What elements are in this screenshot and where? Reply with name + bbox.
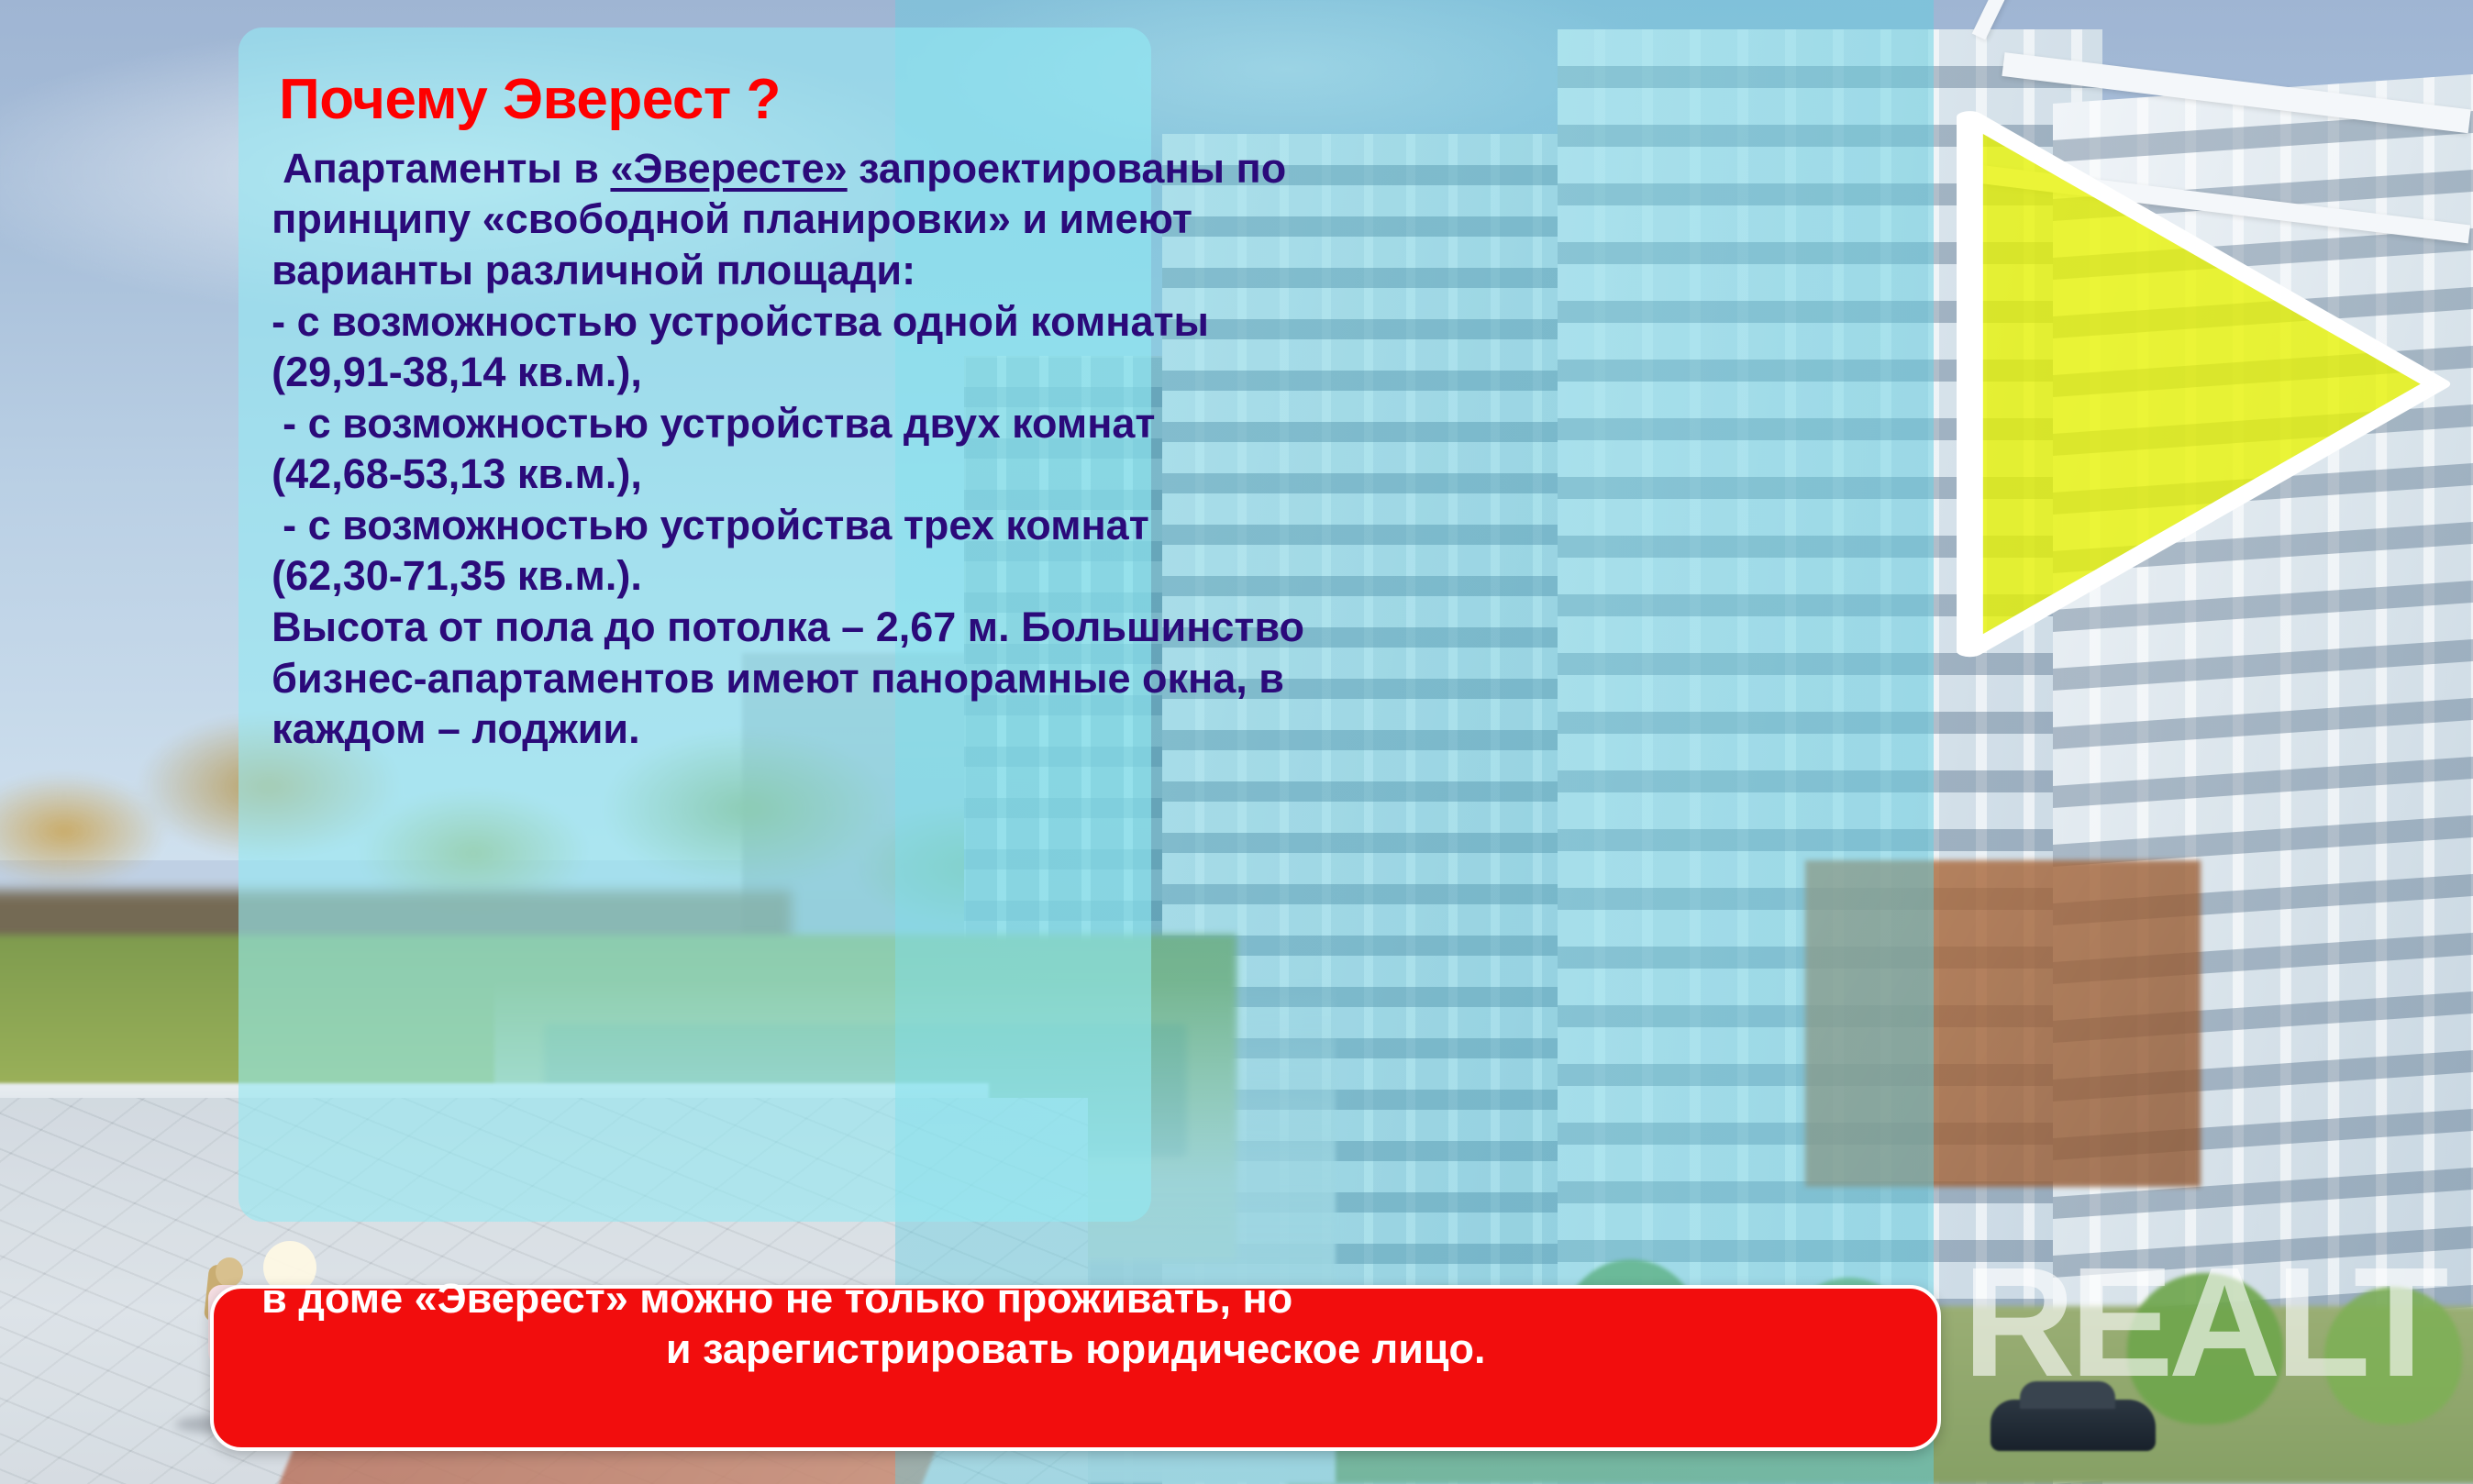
tree xyxy=(2324,1287,2462,1424)
body-line-4: - с возможностью устройства одной комнат… xyxy=(272,296,1120,348)
body-line-2: принципу «свободной планировки» и имеют xyxy=(272,194,1120,245)
red-callout-banner: в доме «Эверест» можно не только прожива… xyxy=(210,1285,1941,1451)
amber-facade xyxy=(1805,860,2201,1187)
banner-line-2: и зарегистрировать юридическое лицо. xyxy=(238,1324,1913,1462)
building-right xyxy=(2053,71,2473,1484)
body-line-3: варианты различной площади: xyxy=(272,245,1120,296)
body-line-11: бизнес-апартаментов имеют панорамные окн… xyxy=(272,653,1120,704)
body-line-6: - с возможностью устройства двух комнат xyxy=(272,398,1120,449)
tree xyxy=(2127,1273,2283,1424)
body-text-block: Апартаменты в «Эвересте» запроектированы… xyxy=(272,143,1120,755)
body-line-10-ceiling-height: Высота от пола до потолка – 2,67 м. Боль… xyxy=(272,602,1120,653)
banner-text-block: в доме «Эверест» можно не только прожива… xyxy=(214,1274,1937,1462)
everest-link: «Эвересте» xyxy=(610,145,847,192)
body-line-1-c: запроектированы по xyxy=(848,145,1287,192)
presentation-slide: Почему Эверест ? Апартаменты в «Эвересте… xyxy=(0,0,2473,1484)
window-grid xyxy=(2053,71,2473,1484)
body-line-8: - с возможностью устройства трех комнат xyxy=(272,500,1120,551)
body-line-1-a: Апартаменты в xyxy=(283,145,610,192)
body-line-9-area-three-room: (62,30-71,35 кв.м.). xyxy=(272,550,1120,602)
content-panel-inner: Почему Эверест ? Апартаменты в «Эвересте… xyxy=(238,28,1151,1222)
body-line-1: Апартаменты в «Эвересте» запроектированы… xyxy=(272,143,1120,194)
content-panel: Почему Эверест ? Апартаменты в «Эвересте… xyxy=(238,28,1151,1222)
body-line-12: каждом – лоджии. xyxy=(272,703,1120,755)
body-line-7-area-two-room: (42,68-53,13 кв.м.), xyxy=(272,449,1120,500)
banner-line-1: в доме «Эверест» можно не только прожива… xyxy=(238,1274,1913,1324)
body-line-5-area-one-room: (29,91-38,14 кв.м.), xyxy=(272,347,1120,398)
parked-car xyxy=(1991,1400,2156,1451)
page-title: Почему Эверест ? xyxy=(279,72,1120,128)
